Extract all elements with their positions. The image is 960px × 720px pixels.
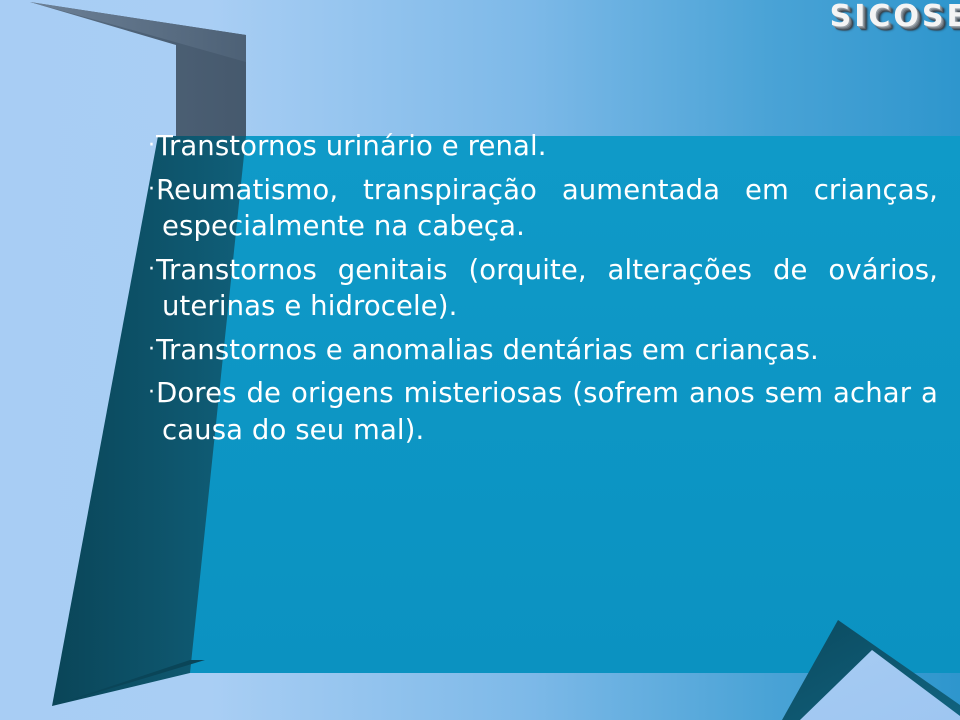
bullet-marker-icon: · bbox=[148, 380, 156, 405]
list-item-text: Transtornos e anomalias dentárias em cri… bbox=[156, 334, 819, 366]
list-item-text: Dores de origens misteriosas (sofrem ano… bbox=[156, 377, 938, 446]
list-item: ·Transtornos e anomalias dentárias em cr… bbox=[148, 332, 938, 369]
bullet-list: ·Transtornos urinário e renal. ·Reumatis… bbox=[148, 128, 938, 676]
list-item: ·Reumatismo, transpiração aumentada em c… bbox=[148, 172, 938, 245]
list-item: ·Dores de origens misteriosas (sofrem an… bbox=[148, 375, 938, 448]
list-item-text: Transtornos genitais (orquite, alteraçõe… bbox=[156, 254, 938, 323]
list-item-text: Transtornos urinário e renal. bbox=[156, 130, 546, 162]
slide-title: SICOSE bbox=[660, 0, 960, 36]
bullet-marker-icon: · bbox=[148, 337, 156, 362]
list-item: ·Transtornos urinário e renal. bbox=[148, 128, 938, 165]
bullet-marker-icon: · bbox=[148, 133, 156, 158]
slide: SICOSE ·Transtornos urinário e renal. ·R… bbox=[0, 0, 960, 720]
bullet-marker-icon: · bbox=[148, 257, 156, 282]
bullet-marker-icon: · bbox=[148, 177, 156, 202]
list-item: ·Transtornos genitais (orquite, alteraçõ… bbox=[148, 252, 938, 325]
list-item-text: Reumatismo, transpiração aumentada em cr… bbox=[156, 174, 938, 243]
